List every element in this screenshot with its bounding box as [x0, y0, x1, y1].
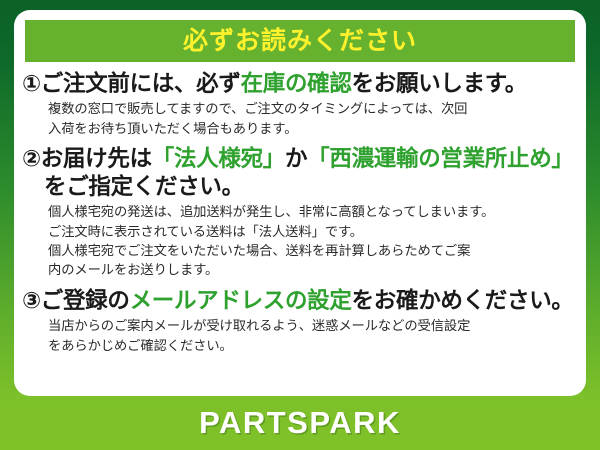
notice-item-3-heading-pre: ご登録の: [41, 288, 130, 313]
notice-item-2-heading-line-2: をご指定ください。: [22, 173, 580, 200]
notice-item-1-heading: ①ご注文前には、必ず在庫の確認をお願いします。: [22, 70, 580, 97]
notice-item-1-heading-highlight: 在庫の確認: [241, 71, 352, 96]
notice-item-1-body: 複数の窓口で販売してますので、ご注文のタイミングによっては、次回 入荷をお待ち頂…: [22, 99, 580, 138]
notice-item-2-body-line-1: 個人様宅宛の発送は、追加送料が発生し、非常に高額となってしまいます。: [48, 202, 580, 221]
notice-item-1-number: ①: [22, 71, 41, 96]
notice-item-2-heading: ②お届け先は「法人様宛」か「西濃運輸の営業所止め」: [22, 145, 580, 172]
notice-item-2-heading-highlight: 「法人様宛」: [152, 146, 285, 171]
notice-item-1-body-line-1: 複数の窓口で販売してますので、ご注文のタイミングによっては、次回: [48, 99, 580, 118]
notice-item-2-body-line-3: 個人様宅宛でご注文をいただいた場合、送料を再計算しあらためてご案: [48, 241, 580, 260]
notice-item-3-body: 当店からのご案内メールが受け取れるよう、迷惑メールなどの受信設定 をあらかじめご…: [22, 316, 580, 355]
partspark-logo: PARTSPARK: [199, 405, 401, 441]
notice-item-3-body-line-2: をあらかじめご確認ください。: [48, 336, 580, 355]
notice-item-2-body-line-4: 内のメールをお送りします。: [48, 260, 580, 279]
notice-item-3-heading-highlight: メールアドレスの設定: [130, 288, 352, 313]
notice-item-3-body-line-1: 当店からのご案内メールが受け取れるよう、迷惑メールなどの受信設定: [48, 316, 580, 335]
notice-item-2-heading-highlight-2: 「西濃運輸の営業所止め」: [307, 146, 573, 171]
notice-item-3-heading: ③ご登録のメールアドレスの設定をお確かめください。: [22, 287, 580, 314]
notice-item-2: ②お届け先は「法人様宛」か「西濃運輸の営業所止め」 をご指定ください。 個人様宅…: [14, 145, 586, 280]
notice-items-list: ①ご注文前には、必ず在庫の確認をお願いします。 複数の窓口で販売してますので、ご…: [14, 70, 586, 355]
banner-title: 必ずお読みください: [183, 29, 417, 54]
notice-item-2-body-line-2: ご注文時に表示されている送料は「法人送料」です。: [48, 222, 580, 241]
notice-item-1: ①ご注文前には、必ず在庫の確認をお願いします。 複数の窓口で販売してますので、ご…: [14, 70, 586, 138]
notice-item-1-heading-post: をお願いします。: [352, 71, 527, 96]
notice-item-2-body: 個人様宅宛の発送は、追加送料が発生し、非常に高額となってしまいます。 ご注文時に…: [22, 202, 580, 280]
notice-item-2-heading-pre: お届け先は: [41, 146, 152, 171]
notice-item-3: ③ご登録のメールアドレスの設定をお確かめください。 当店からのご案内メールが受け…: [14, 287, 586, 355]
notice-item-1-heading-pre: ご注文前には、必ず: [41, 71, 241, 96]
notice-footer: PARTSPARK: [0, 396, 600, 450]
notice-item-3-number: ③: [22, 288, 41, 313]
notice-item-2-heading-mid: か: [285, 146, 307, 171]
notice-poster: 必ずお読みください ①ご注文前には、必ず在庫の確認をお願いします。 複数の窓口で…: [0, 0, 600, 450]
notice-banner: 必ずお読みください: [25, 20, 575, 62]
notice-item-2-number: ②: [22, 146, 41, 171]
notice-item-3-heading-post: をお確かめください。: [352, 288, 574, 313]
notice-item-1-body-line-2: 入荷をお待ち頂いただく場合もあります。: [48, 119, 580, 138]
